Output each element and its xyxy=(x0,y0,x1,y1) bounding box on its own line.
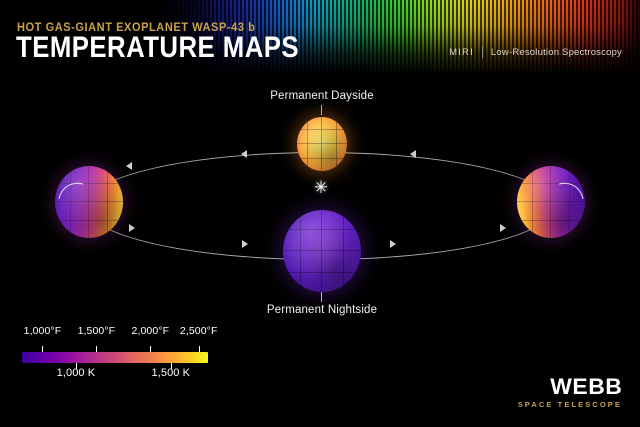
host-star-icon: ✳ xyxy=(313,180,329,196)
planet-shading-dayside xyxy=(297,117,347,171)
colorbar-label-f-0: 1,000°F xyxy=(24,325,62,337)
orbit-arrow-bottom-mid xyxy=(242,240,248,248)
page-title: TEMPERATURE MAPS xyxy=(16,33,299,63)
orbit-arrow-bottom-right xyxy=(390,240,396,248)
webb-logo-subtitle: SPACE TELESCOPE xyxy=(518,400,622,409)
planet-left-quadrature xyxy=(55,166,123,238)
colorbar-tick-f-2 xyxy=(150,346,151,352)
colorbar-gradient xyxy=(22,352,208,363)
colorbar-label-f-2: 2,000°F xyxy=(132,325,170,337)
colorbar-label-f-1: 1,500°F xyxy=(78,325,116,337)
nightside-leader-line xyxy=(321,292,322,302)
webb-logo: WEBB SPACE TELESCOPE xyxy=(518,376,622,409)
planet-dayside xyxy=(297,117,347,171)
planet-nightside xyxy=(283,210,361,292)
dayside-label: Permanent Dayside xyxy=(252,90,392,102)
orbit-arrow-top-left xyxy=(126,162,132,170)
orbit-arrow-bottom-far-right xyxy=(500,224,506,232)
colorbar-label-k-1: 1,500 K xyxy=(151,367,190,379)
colorbar-label-f-3: 2,500°F xyxy=(180,325,218,337)
orbit-arrow-top-mid xyxy=(241,150,247,158)
colorbar-tick-f-3 xyxy=(199,346,200,352)
orbit-arrow-bottom-left xyxy=(129,224,135,232)
colorbar-tick-f-0 xyxy=(42,346,43,352)
colorbar-tick-f-1 xyxy=(96,346,97,352)
orbit-arrow-top-right xyxy=(410,150,416,158)
planet-shading-nightside xyxy=(283,210,361,292)
dayside-leader-line xyxy=(321,105,322,115)
instrument-name: MIRI xyxy=(449,47,474,58)
credit-divider xyxy=(482,46,483,58)
planet-right-quadrature xyxy=(517,166,585,238)
infographic-canvas: HOT GAS-GIANT EXOPLANET WASP-43 b TEMPER… xyxy=(0,0,640,427)
nightside-label: Permanent Nightside xyxy=(250,304,394,316)
webb-logo-wordmark: WEBB xyxy=(514,376,622,398)
instrument-mode: Low-Resolution Spectroscopy xyxy=(491,47,622,58)
colorbar-label-k-0: 1,000 K xyxy=(57,367,96,379)
instrument-credit: MIRI Low-Resolution Spectroscopy xyxy=(449,46,622,58)
